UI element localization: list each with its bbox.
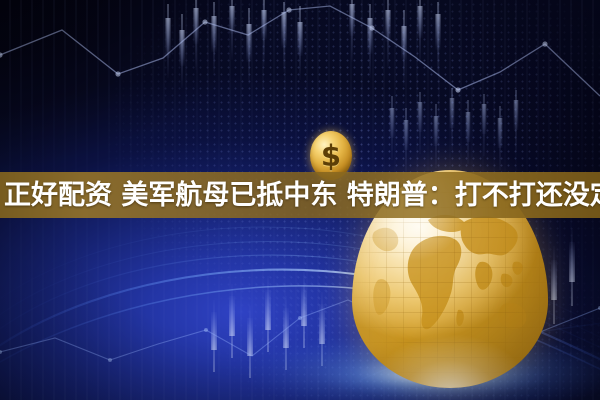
headline-text: 正好配资 美军航母已抵中东 特朗普：打不打还没定 [0,182,600,209]
banner-image: $ 正好配资 美军航母已抵中东 特朗普：打不打还没定 [0,0,600,400]
headline-band: 正好配资 美军航母已抵中东 特朗普：打不打还没定 [0,172,600,218]
